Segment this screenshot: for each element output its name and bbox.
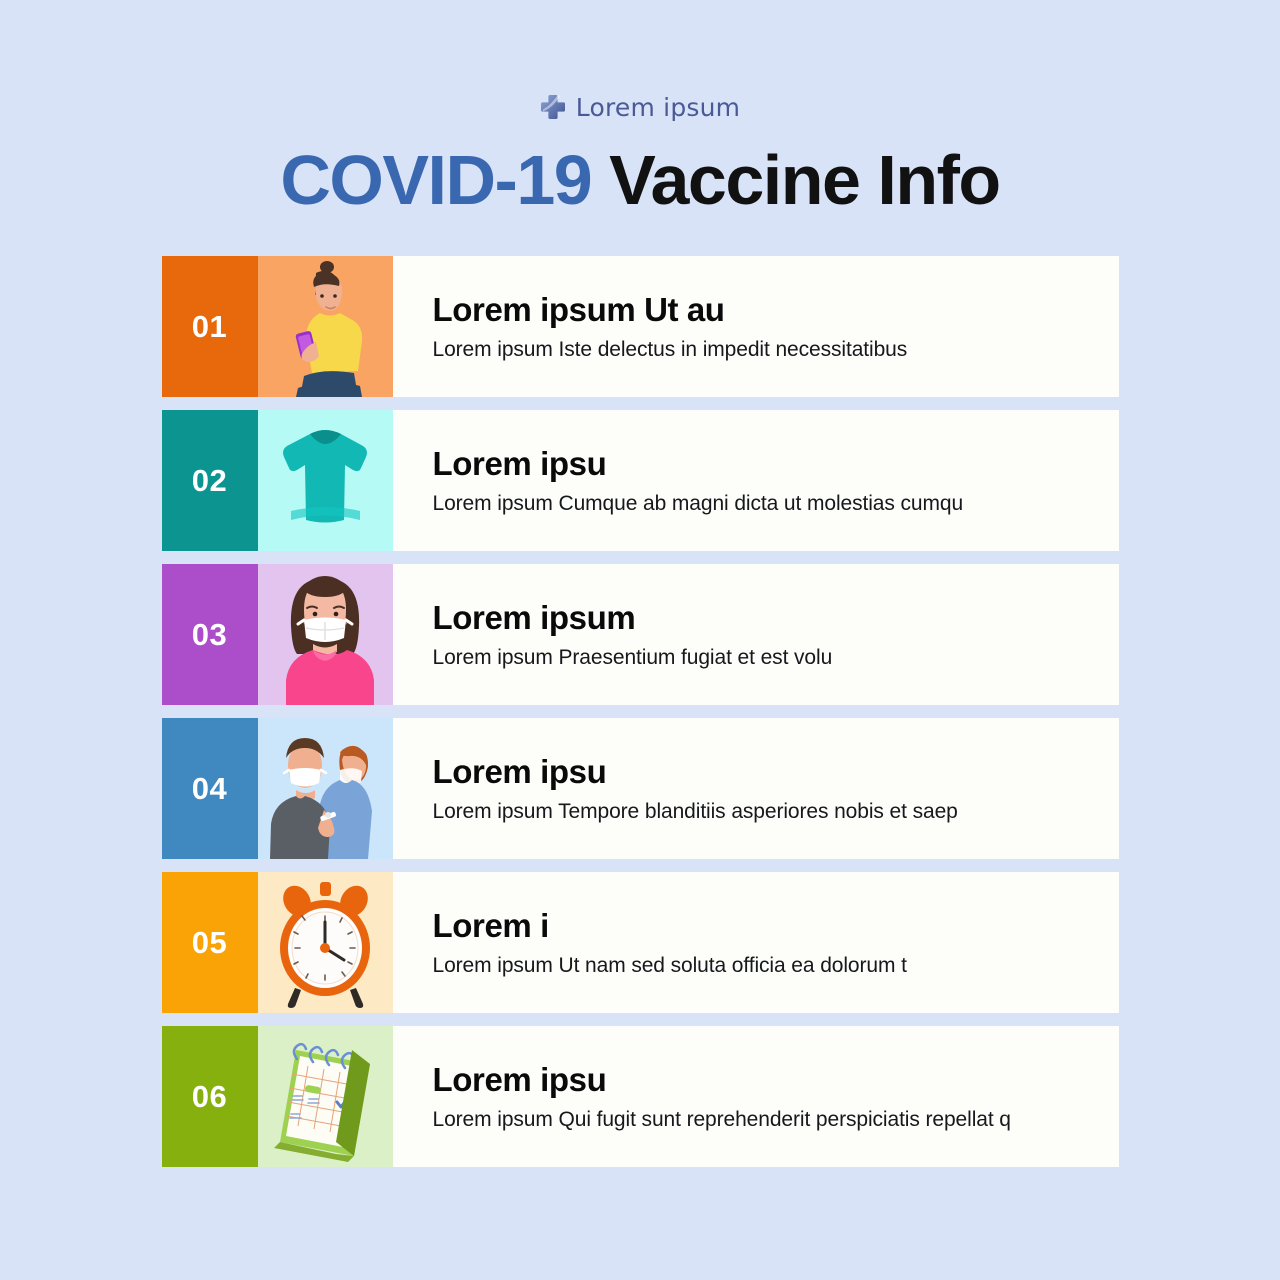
steps-list: 01 [162,256,1119,1167]
woman-with-phone-illustration [258,256,393,397]
page-title-accent: COVID-19 [280,141,591,219]
step-heading: Lorem ipsu [433,753,1119,791]
page-title: COVID-19 Vaccine Info [0,140,1280,220]
step-number-block: 01 [162,256,258,397]
step-number-block: 05 [162,872,258,1013]
vaccination-illustration [258,718,393,859]
alarm-clock-illustration [258,872,393,1013]
list-item[interactable]: 03 [162,564,1119,705]
step-heading: Lorem ipsum Ut au [433,291,1119,329]
tshirt-illustration [258,410,393,551]
step-subtext: Lorem ipsum Qui fugit sunt reprehenderit… [433,1108,1119,1132]
step-heading: Lorem ipsum [433,599,1119,637]
infographic-page: Lorem ipsum COVID-19 Vaccine Info 01 [0,90,1280,1280]
list-item[interactable]: 02 Lorem ipsu Lorem ipsum Cumque ab magn… [162,410,1119,551]
step-heading: Lorem ipsu [433,445,1119,483]
step-subtext: Lorem ipsum Tempore blanditiis asperiore… [433,800,1119,824]
list-item[interactable]: 01 [162,256,1119,397]
step-number: 06 [192,1079,227,1115]
step-heading: Lorem i [433,907,1119,945]
list-item[interactable]: 04 [162,718,1119,859]
desk-calendar-illustration [258,1026,393,1167]
list-item[interactable]: 06 [162,1026,1119,1167]
step-text: Lorem ipsum Lorem ipsum Praesentium fugi… [393,564,1119,705]
page-title-rest: Vaccine Info [591,141,999,219]
woman-wearing-mask-illustration [258,564,393,705]
step-subtext: Lorem ipsum Cumque ab magni dicta ut mol… [433,492,1119,516]
step-text: Lorem ipsu Lorem ipsum Cumque ab magni d… [393,410,1119,551]
step-number: 02 [192,463,227,499]
step-text: Lorem ipsum Ut au Lorem ipsum Iste delec… [393,256,1119,397]
step-subtext: Lorem ipsum Ut nam sed soluta officia ea… [433,954,1119,978]
brand-name: Lorem ipsum [576,93,740,122]
step-number-block: 02 [162,410,258,551]
step-heading: Lorem ipsu [433,1061,1119,1099]
brand-header: Lorem ipsum [0,90,1280,124]
step-number: 03 [192,617,227,653]
step-number-block: 03 [162,564,258,705]
step-subtext: Lorem ipsum Praesentium fugiat et est vo… [433,646,1119,670]
step-number: 01 [192,309,227,345]
step-subtext: Lorem ipsum Iste delectus in impedit nec… [433,338,1119,362]
step-number-block: 04 [162,718,258,859]
step-text: Lorem ipsu Lorem ipsum Qui fugit sunt re… [393,1026,1119,1167]
step-text: Lorem ipsu Lorem ipsum Tempore blanditii… [393,718,1119,859]
step-number: 05 [192,925,227,961]
medical-cross-icon [540,94,566,120]
step-text: Lorem i Lorem ipsum Ut nam sed soluta of… [393,872,1119,1013]
list-item[interactable]: 05 [162,872,1119,1013]
step-number: 04 [192,771,227,807]
step-number-block: 06 [162,1026,258,1167]
